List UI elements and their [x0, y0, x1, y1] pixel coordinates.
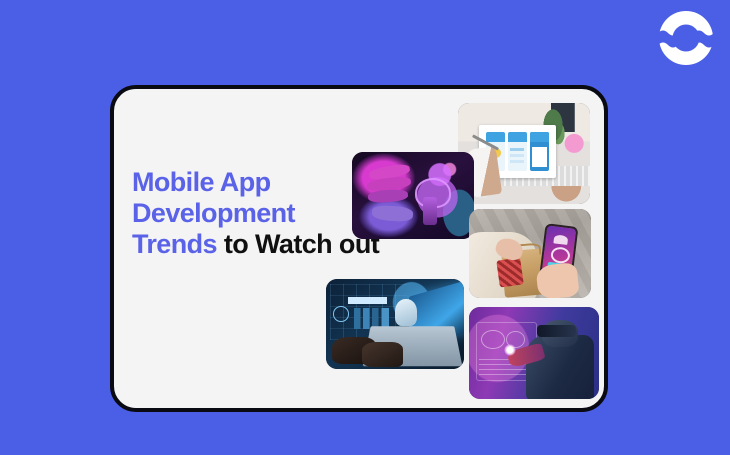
poster-card: Mobile App Development Trends to Watch o…	[110, 85, 608, 412]
title-accent-word: Trends	[132, 229, 217, 259]
mobile-payment-shopping-photo	[469, 209, 591, 298]
vr-goggles	[537, 325, 576, 337]
hand-right	[362, 342, 403, 367]
photo-3-scene	[469, 209, 591, 298]
phone-hand	[536, 262, 581, 298]
ai-laptop-photo	[326, 279, 464, 369]
wireframe-screen-3	[530, 132, 549, 171]
robot-arm	[395, 299, 417, 326]
neon-gaming-controller-photo	[352, 152, 474, 239]
photo-1-scene	[458, 103, 590, 204]
joystick	[423, 197, 438, 225]
vr-headset-photo	[469, 307, 599, 399]
hud-dots	[348, 297, 387, 304]
fingertip-glow	[504, 344, 516, 356]
app-design-wireframe-photo	[458, 103, 590, 204]
phone-icon	[553, 234, 568, 244]
wireframe-screen-2	[508, 132, 527, 171]
photo-4-scene	[326, 279, 464, 369]
brand-logo-icon[interactable]	[658, 10, 714, 66]
hud-ring	[333, 306, 349, 322]
photo-2-scene	[352, 152, 474, 239]
phone-check-circle	[550, 246, 571, 264]
thumb	[371, 205, 413, 223]
garment	[497, 257, 525, 287]
finger-3	[367, 189, 408, 204]
poster-canvas: Mobile App Development Trends to Watch o…	[0, 0, 730, 455]
photo-5-scene	[469, 307, 599, 399]
